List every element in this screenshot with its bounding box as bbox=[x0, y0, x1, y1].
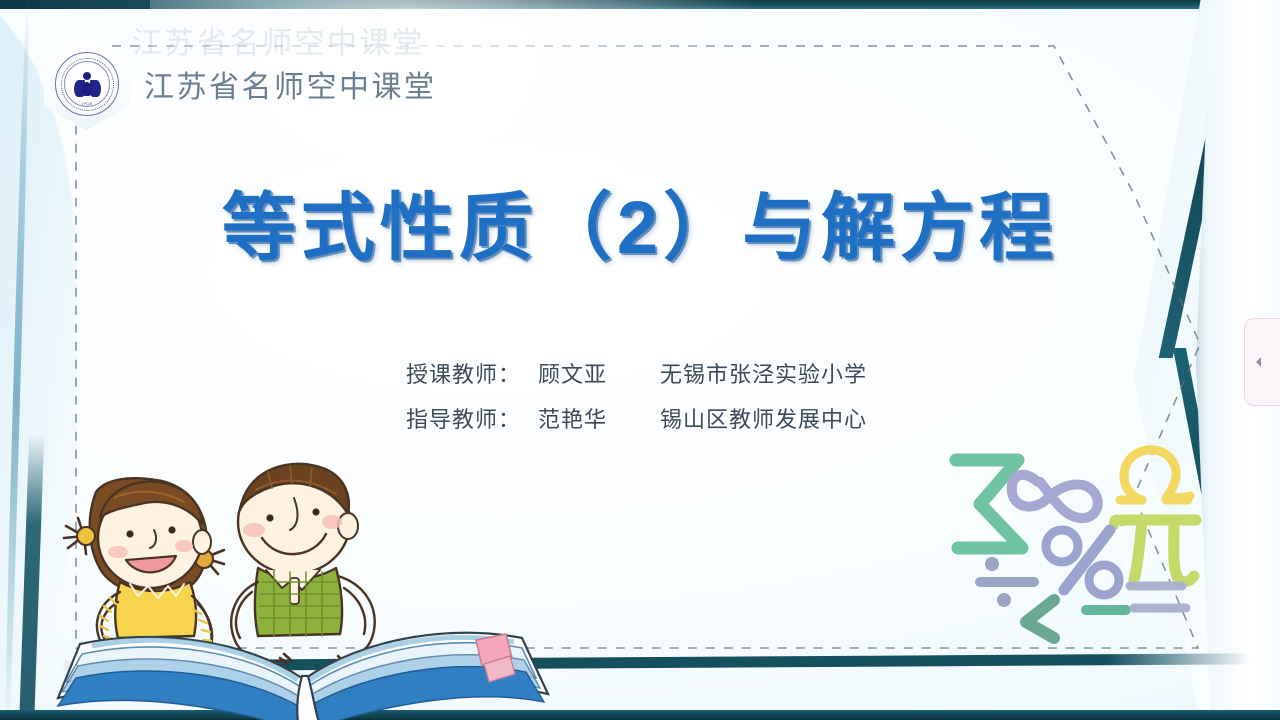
credit-organization: 无锡市张泾实验小学 bbox=[660, 352, 867, 397]
seal-emblem-figure bbox=[74, 72, 101, 97]
less-than-symbol bbox=[1026, 600, 1054, 638]
brand-title: 江苏省名师空中课堂 bbox=[144, 62, 437, 106]
credit-teacher-name: 顾文亚 bbox=[538, 352, 660, 397]
credit-organization: 锡山区教师发展中心 bbox=[660, 397, 867, 442]
logo-hex-plate: JPQB bbox=[44, 38, 130, 130]
pi-symbol bbox=[1113, 519, 1196, 582]
infinity-symbol bbox=[1012, 475, 1098, 518]
math-symbols-decoration bbox=[944, 424, 1234, 654]
credit-line: 指导教师： 范艳华 锡山区教师发展中心 bbox=[406, 397, 867, 442]
percent-symbol bbox=[1046, 530, 1119, 595]
slide-header: JPQB 江苏省名师空中课堂 bbox=[44, 38, 437, 130]
boy-figure bbox=[231, 464, 374, 666]
right-page-tab bbox=[1244, 318, 1280, 406]
presentation-slide: JPQB 江苏省名师空中课堂 江苏省名师空中课堂 等式性质（2）与解方程 授课教… bbox=[0, 0, 1280, 720]
jiangsu-seal-icon: JPQB bbox=[55, 52, 119, 116]
lesson-title: 等式性质（2）与解方程 bbox=[222, 168, 1058, 275]
credits-block: 授课教师： 顾文亚 无锡市张泾实验小学 指导教师： 范艳华 锡山区教师发展中心 bbox=[406, 352, 867, 442]
credit-role-label: 授课教师： bbox=[406, 352, 538, 397]
credit-role-label: 指导教师： bbox=[406, 397, 538, 442]
credit-teacher-name: 范艳华 bbox=[538, 397, 660, 442]
credit-line: 授课教师： 顾文亚 无锡市张泾实验小学 bbox=[406, 352, 867, 397]
omega-symbol bbox=[1120, 450, 1190, 500]
title-block: 等式性质（2）与解方程 bbox=[0, 168, 1280, 275]
open-book bbox=[58, 633, 548, 720]
equals-symbol bbox=[1130, 586, 1186, 608]
two-children-reading-open-book bbox=[44, 426, 564, 720]
divide-symbol bbox=[980, 557, 1034, 607]
top-rail-accent bbox=[0, 0, 430, 9]
seal-abbrev-text: JPQB bbox=[56, 102, 118, 106]
